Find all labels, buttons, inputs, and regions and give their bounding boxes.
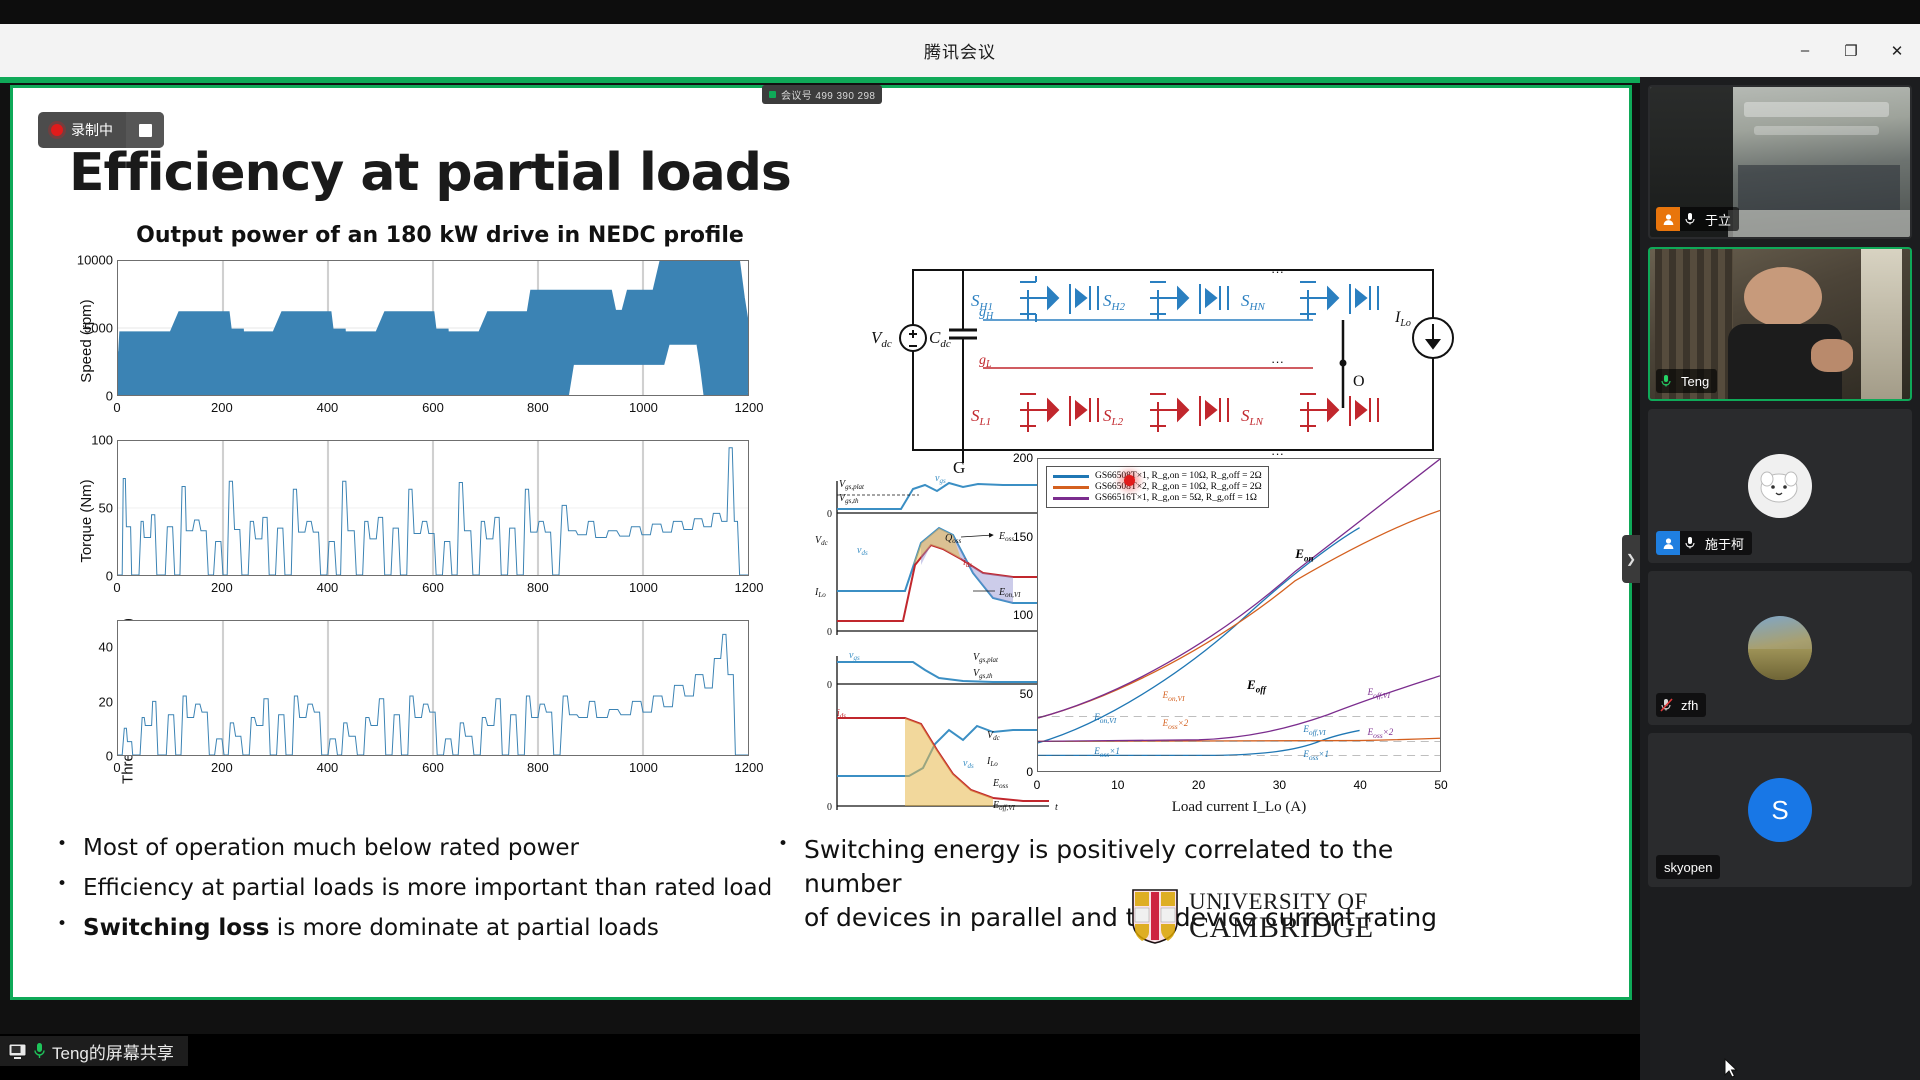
power-chart: Three-phase power (kW) 0 20 40 xyxy=(49,620,749,782)
participant-avatar-3 xyxy=(1748,616,1812,680)
power-chart-yticks: 0 20 40 xyxy=(71,620,115,756)
svg-text:Vdc: Vdc xyxy=(815,535,829,547)
participant-name-0: 于立 xyxy=(1705,210,1731,229)
circuit-label-gl: gL xyxy=(979,353,992,370)
meeting-status-icon xyxy=(769,91,776,98)
meeting-body: Efficiency at partial loads Output power… xyxy=(0,77,1920,1080)
svg-text:vgs: vgs xyxy=(935,473,946,485)
participant-tile-0[interactable]: 于立 xyxy=(1648,85,1912,239)
torque-chart-axes xyxy=(117,440,749,576)
participant-tile-1[interactable]: Teng xyxy=(1648,247,1912,401)
microphone-icon xyxy=(1680,536,1700,550)
bullet-marker: • xyxy=(57,873,83,896)
share-status-chip[interactable]: Teng的屏幕共享 xyxy=(0,1036,188,1066)
bullet-bold-prefix: Switching loss xyxy=(83,915,270,941)
recording-label: 录制中 xyxy=(71,120,126,140)
meeting-id-label: 会议号 499 390 298 xyxy=(781,87,875,102)
energy-losses-chart: Energy losses E_on & E_off (μJ) 0 50 100… xyxy=(973,458,1443,818)
bullet-text: Switching loss is more dominate at parti… xyxy=(83,913,659,944)
bullet-marker: • xyxy=(778,833,804,856)
bullet-item: • Switching loss is more dominate at par… xyxy=(57,913,817,944)
slide-title: Efficiency at partial loads xyxy=(69,143,791,203)
cambridge-line-2: CAMBRIDGE xyxy=(1189,913,1374,943)
power-chart-plot xyxy=(118,621,748,755)
circuit-label-sh2: SH2 xyxy=(1103,291,1125,313)
energy-chart-legend: GS66508T×1, R_g,on = 10Ω, R_g,off = 2Ω G… xyxy=(1046,466,1269,508)
cartoon-avatar-icon xyxy=(1757,466,1803,506)
stop-recording-button[interactable] xyxy=(126,112,164,148)
recording-indicator[interactable]: 录制中 xyxy=(38,112,164,148)
cambridge-shield-icon xyxy=(1131,888,1179,944)
participant-namebar-3: zfh xyxy=(1656,693,1706,717)
circuit-label-node-o: O xyxy=(1353,373,1365,390)
cohost-badge-icon xyxy=(1656,531,1680,555)
host-badge-icon xyxy=(1656,207,1680,231)
circuit-label-sh1: SH1 xyxy=(971,291,993,313)
legend-item: GS66508T×1, R_g,on = 10Ω, R_g,off = 2Ω xyxy=(1053,471,1262,481)
svg-text:···: ··· xyxy=(1271,354,1284,369)
speed-chart-plot xyxy=(118,261,748,395)
chevron-right-icon: ❯ xyxy=(1626,552,1636,566)
circuit-label-cdc: Cdc xyxy=(929,328,951,350)
close-button[interactable]: ✕ xyxy=(1874,24,1920,77)
bullet-item: • Most of operation much below rated pow… xyxy=(57,833,817,864)
annotation-eoff: Eoff xyxy=(1247,677,1266,695)
participant-namebar-1: Teng xyxy=(1656,369,1717,393)
bullet-text: Efficiency at partial loads is more impo… xyxy=(83,873,772,904)
energy-chart-xlabel: Load current I_Lo (A) xyxy=(1037,799,1441,816)
participant-name-3: zfh xyxy=(1681,698,1698,713)
speed-chart: Speed (rpm) 0 5000 10000 xyxy=(49,260,749,422)
bullet-rest: is more dominate at partial loads xyxy=(270,915,659,941)
power-chart-axes xyxy=(117,620,749,756)
annotation-eoss-x1-blue2: Eoss×1 xyxy=(1303,749,1329,762)
shared-screen-region[interactable]: Efficiency at partial loads Output power… xyxy=(0,77,1640,1034)
participant-tile-3[interactable]: zfh xyxy=(1648,571,1912,725)
legend-item: GS66516T×1, R_g,on = 5Ω, R_g,off = 1Ω xyxy=(1053,493,1262,503)
annotation-eon-vi-orange: Eon,VI xyxy=(1163,690,1185,703)
left-plots-subheading: Output power of an 180 kW drive in NEDC … xyxy=(49,223,779,248)
circuit-label-sl1: SL1 xyxy=(971,406,991,428)
torque-chart-xticks: 0 200 400 600 800 1000 1200 xyxy=(117,580,749,600)
energy-chart-yticks: 0 50 100 150 200 xyxy=(1009,458,1035,772)
torque-chart-plot xyxy=(118,441,748,575)
avatar-initial: S xyxy=(1771,795,1788,826)
participant-namebar-0: 于立 xyxy=(1656,207,1739,231)
circuit-label-vdc: Vdc xyxy=(871,328,892,350)
svg-text:0: 0 xyxy=(827,509,832,520)
share-active-border xyxy=(0,77,1640,83)
speed-chart-yticks: 0 5000 10000 xyxy=(71,260,115,396)
minimize-button[interactable]: – xyxy=(1782,24,1828,77)
cambridge-wordmark: UNIVERSITY OF CAMBRIDGE xyxy=(1189,890,1374,943)
stop-square-icon xyxy=(139,124,152,137)
share-footer: Teng的屏幕共享 xyxy=(0,1034,1640,1080)
annotation-eoff-vi-blue: Eoff,VI xyxy=(1303,724,1325,737)
bullet-marker: • xyxy=(57,913,83,936)
svg-text:ILo: ILo xyxy=(814,587,826,599)
presentation-slide: Efficiency at partial loads Output power… xyxy=(10,85,1632,1000)
participant-avatar-4: S xyxy=(1748,778,1812,842)
svg-text:0: 0 xyxy=(827,627,832,638)
participant-name-1: Teng xyxy=(1681,374,1709,389)
svg-text:vds: vds xyxy=(857,545,868,557)
share-status-label: Teng的屏幕共享 xyxy=(52,1039,174,1064)
meeting-window: 腾讯会议 – ❐ ✕ Efficiency at partial loads O… xyxy=(0,0,1920,1080)
microphone-muted-icon xyxy=(1656,698,1676,712)
participant-namebar-4: skyopen xyxy=(1656,855,1720,879)
bullet-item: • Efficiency at partial loads is more im… xyxy=(57,873,817,904)
annotation-eoss-x2-orange: Eoss×2 xyxy=(1163,718,1189,731)
svg-text:ids: ids xyxy=(963,557,972,569)
energy-chart-axes: GS66508T×1, R_g,on = 10Ω, R_g,off = 2Ω G… xyxy=(1037,458,1441,772)
svg-text:ids: ids xyxy=(837,708,846,720)
left-bullet-list: • Most of operation much below rated pow… xyxy=(57,833,817,953)
svg-text:0: 0 xyxy=(827,802,832,813)
collapse-panel-toggle[interactable]: ❯ xyxy=(1622,535,1640,583)
participant-avatar-2 xyxy=(1748,454,1812,518)
speed-chart-axes xyxy=(117,260,749,396)
meeting-id-chip[interactable]: 会议号 499 390 298 xyxy=(762,85,882,104)
recording-dot-icon xyxy=(51,124,63,136)
annotation-eoss-x1-blue: Eoss×1 xyxy=(1094,746,1120,759)
legend-swatch-orange xyxy=(1053,486,1089,489)
torque-chart: Torque (Nm) 0 50 100 xyxy=(49,440,749,602)
participant-tile-4[interactable]: S skyopen xyxy=(1648,733,1912,887)
participants-panel: 于立 Teng xyxy=(1640,77,1920,1080)
circuit-label-shn: SHN xyxy=(1241,291,1265,313)
legend-item: GS66508T×2, R_g,on = 10Ω, R_g,off = 2Ω xyxy=(1053,482,1262,492)
screen-share-icon xyxy=(8,1043,27,1060)
participant-name-2: 施于柯 xyxy=(1705,534,1744,553)
left-plot-column: Output power of an 180 kW drive in NEDC … xyxy=(49,223,779,800)
annotation-eoss-x2-purple: Eoss×2 xyxy=(1368,727,1394,740)
circuit-label-sln: SLN xyxy=(1241,406,1264,428)
participant-namebar-2: 施于柯 xyxy=(1656,531,1752,555)
svg-text:Vgs,plat: Vgs,plat xyxy=(839,479,865,491)
svg-text:0: 0 xyxy=(827,680,832,691)
mouse-cursor-highlight xyxy=(1124,475,1135,486)
speed-chart-xticks: 0 200 400 600 800 1000 1200 xyxy=(117,400,749,420)
svg-text:vgs: vgs xyxy=(849,650,860,662)
mouse-cursor xyxy=(1724,1058,1738,1078)
microphone-icon xyxy=(1656,374,1676,388)
circuit-label-ilo: ILo xyxy=(1394,309,1411,329)
torque-chart-yticks: 0 50 100 xyxy=(71,440,115,576)
microphone-icon xyxy=(33,1042,46,1060)
annotation-eon-vi-blue: Eon,VI xyxy=(1094,712,1116,725)
bullet-marker: • xyxy=(57,833,83,856)
energy-chart-xticks: 0 10 20 30 40 50 xyxy=(1037,778,1441,794)
power-chart-xticks: 0 200 400 600 800 1000 1200 xyxy=(117,760,749,780)
annotation-eon: Eon xyxy=(1295,546,1313,564)
bullet-text: Most of operation much below rated power xyxy=(83,833,579,864)
maximize-button[interactable]: ❐ xyxy=(1828,24,1874,77)
cambridge-logo: UNIVERSITY OF CAMBRIDGE xyxy=(1131,888,1374,944)
legend-swatch-purple xyxy=(1053,497,1089,500)
circuit-label-sl2: SL2 xyxy=(1103,406,1124,428)
cambridge-line-1: UNIVERSITY OF xyxy=(1189,890,1374,913)
microphone-icon xyxy=(1680,212,1700,226)
svg-text:···: ··· xyxy=(1271,264,1284,279)
multilevel-inverter-circuit: ··· ··· ··· Vdc Cdc G O ILo gH gL SH1 xyxy=(853,258,1533,488)
legend-swatch-blue xyxy=(1053,475,1089,478)
participant-name-4: skyopen xyxy=(1664,860,1712,875)
window-titlebar: 腾讯会议 – ❐ ✕ xyxy=(0,24,1920,77)
annotation-eoff-vi-purple: Eoff,VI xyxy=(1368,687,1390,700)
window-controls: – ❐ ✕ xyxy=(1782,24,1920,77)
window-title: 腾讯会议 xyxy=(924,38,996,63)
participant-tile-2[interactable]: 施于柯 xyxy=(1648,409,1912,563)
right-figure-column: ··· ··· ··· Vdc Cdc G O ILo gH gL SH1 xyxy=(813,208,1613,828)
